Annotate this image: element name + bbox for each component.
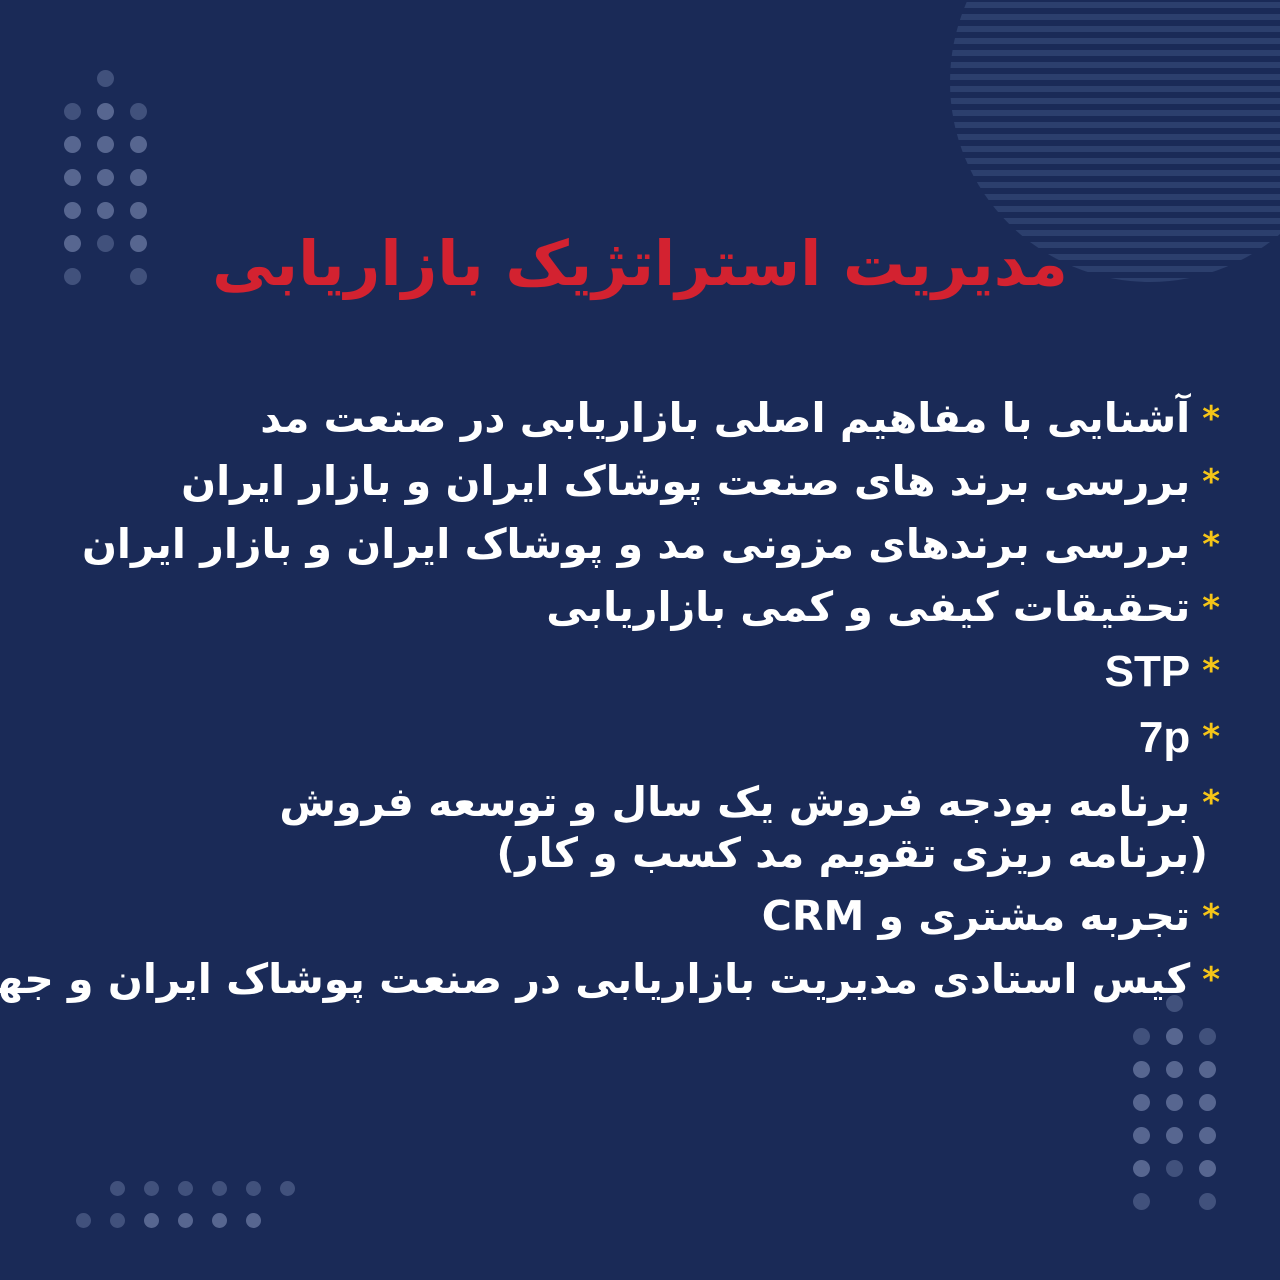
decorative-dot <box>178 1181 193 1196</box>
decorative-dot <box>144 1181 159 1196</box>
list-item: * STP <box>60 650 1220 694</box>
decorative-dot <box>110 1181 125 1196</box>
decorative-dot <box>1199 1028 1216 1045</box>
bullet-list: * آشنایی با مفاهیم اصلی بازاریابی در صنع… <box>0 398 1280 1000</box>
asterisk-bullet-icon: * <box>1202 720 1220 754</box>
list-item: * 7p <box>60 716 1220 760</box>
decorative-dot <box>97 136 114 153</box>
list-item-label: (برنامه ریزی تقویم مد کسب و کار) <box>496 833 1208 874</box>
presentation-slide: مدیریت استراتژیک بازاریابی * آشنایی با م… <box>0 0 1280 1280</box>
decorative-dot <box>64 103 81 120</box>
list-item-label: بررسی برند های صنعت پوشاک ایران و بازار … <box>181 461 1190 502</box>
decorative-dot <box>1133 1127 1150 1144</box>
decorative-dot <box>64 202 81 219</box>
decorative-dot <box>130 202 147 219</box>
decorative-dot <box>1199 1160 1216 1177</box>
decorative-dot <box>1166 1061 1183 1078</box>
decorative-dot <box>97 70 114 87</box>
asterisk-bullet-icon: * <box>1202 402 1220 436</box>
decorative-dot <box>1133 1061 1150 1078</box>
decorative-dot <box>280 1181 295 1196</box>
decorative-dot <box>130 103 147 120</box>
list-item: * آشنایی با مفاهیم اصلی بازاریابی در صنع… <box>60 398 1220 439</box>
list-item-label: STP <box>1105 650 1191 694</box>
decorative-dot <box>76 1213 91 1228</box>
decorative-dot <box>130 136 147 153</box>
decorative-dot <box>178 1213 193 1228</box>
list-item-continuation: (برنامه ریزی تقویم مد کسب و کار) <box>60 833 1220 874</box>
asterisk-bullet-icon: * <box>1202 654 1220 688</box>
list-item: * برنامه بودجه فروش یک سال و توسعه فروش <box>60 782 1220 823</box>
list-item: * تحقیقات کیفی و کمی بازاریابی <box>60 587 1220 628</box>
decorative-dot <box>1199 1094 1216 1111</box>
decorative-dot <box>1133 1193 1150 1210</box>
decorative-dot <box>1133 1160 1150 1177</box>
list-item-label: بررسی برندهای مزونی مد و پوشاک ایران و ب… <box>82 524 1190 565</box>
dot-grid-bottom-left-decoration <box>66 1172 304 1236</box>
decorative-dot <box>1166 1028 1183 1045</box>
decorative-dot <box>246 1213 261 1228</box>
asterisk-bullet-icon: * <box>1202 963 1220 997</box>
list-item-label: برنامه بودجه فروش یک سال و توسعه فروش <box>279 782 1190 823</box>
decorative-dot <box>97 169 114 186</box>
decorative-dot <box>1199 1127 1216 1144</box>
decorative-dot <box>64 136 81 153</box>
list-item-label: تجربه مشتری و CRM <box>762 896 1190 937</box>
decorative-dot <box>1133 1094 1150 1111</box>
list-item-label: کیس استادی مدیریت بازاریابی در صنعت پوشا… <box>0 959 1190 1000</box>
list-item: * بررسی برند های صنعت پوشاک ایران و بازا… <box>60 461 1220 502</box>
decorative-dot <box>97 103 114 120</box>
decorative-dot <box>1133 1028 1150 1045</box>
decorative-dot <box>1166 1160 1183 1177</box>
decorative-dot <box>130 169 147 186</box>
list-item: * تجربه مشتری و CRM <box>60 896 1220 937</box>
decorative-dot <box>212 1181 227 1196</box>
asterisk-bullet-icon: * <box>1202 528 1220 562</box>
decorative-dot <box>97 202 114 219</box>
decorative-dot <box>110 1213 125 1228</box>
decorative-dot <box>1199 1193 1216 1210</box>
list-item-label: 7p <box>1139 716 1190 760</box>
list-item-label: آشنایی با مفاهیم اصلی بازاریابی در صنعت … <box>260 398 1190 439</box>
decorative-dot <box>1199 1061 1216 1078</box>
decorative-dot <box>1166 1127 1183 1144</box>
asterisk-bullet-icon: * <box>1202 900 1220 934</box>
decorative-dot <box>64 169 81 186</box>
decorative-dot <box>1166 1094 1183 1111</box>
list-item: * بررسی برندهای مزونی مد و پوشاک ایران و… <box>60 524 1220 565</box>
list-item-label: تحقیقات کیفی و کمی بازاریابی <box>546 587 1190 628</box>
asterisk-bullet-icon: * <box>1202 786 1220 820</box>
slide-title: مدیریت استراتژیک بازاریابی <box>0 228 1280 299</box>
decorative-dot <box>144 1213 159 1228</box>
decorative-dot <box>246 1181 261 1196</box>
list-item: * کیس استادی مدیریت بازاریابی در صنعت پو… <box>60 959 1220 1000</box>
decorative-dot <box>212 1213 227 1228</box>
asterisk-bullet-icon: * <box>1202 591 1220 625</box>
dot-grid-bottom-right-decoration <box>1125 987 1224 1218</box>
asterisk-bullet-icon: * <box>1202 465 1220 499</box>
